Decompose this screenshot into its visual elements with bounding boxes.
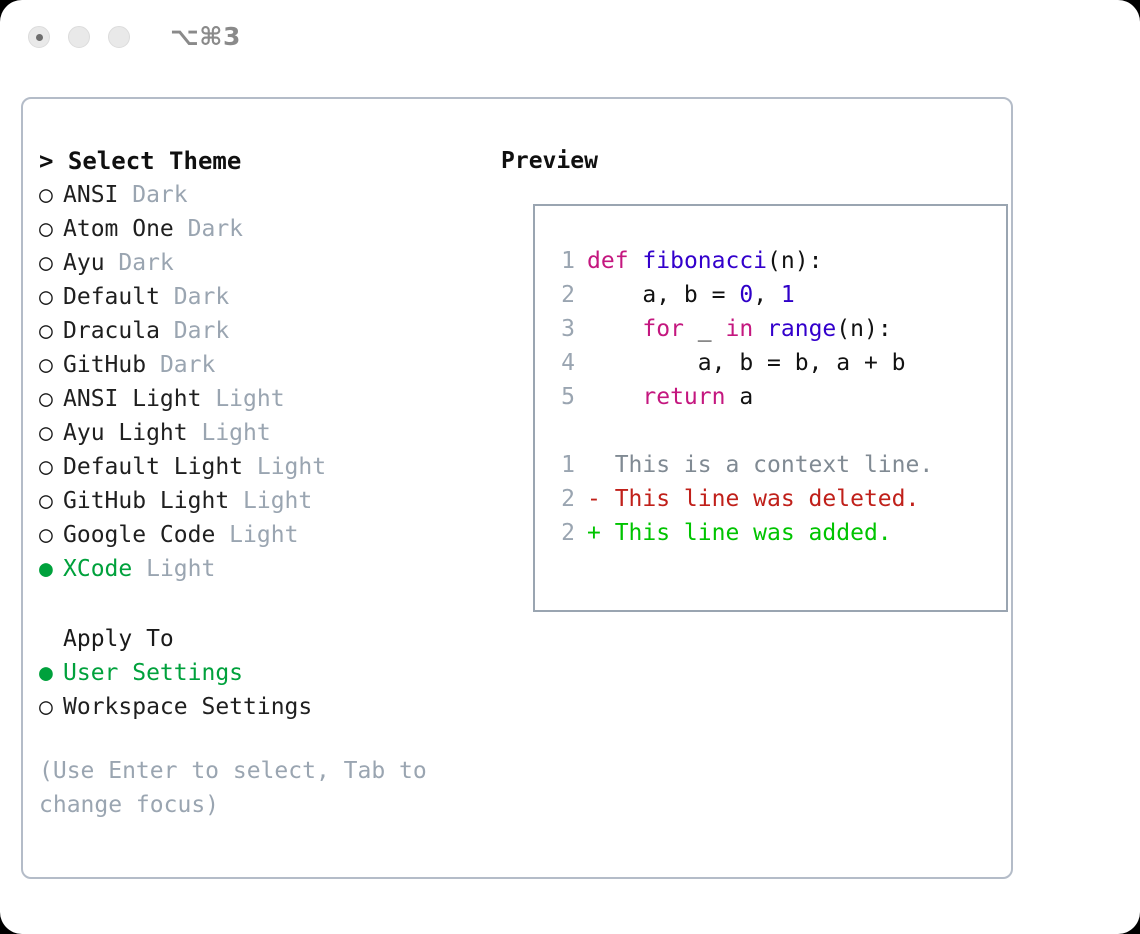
window-controls [28,26,130,48]
code-token: - This line was deleted. [587,486,919,512]
line-number: 4 [551,346,575,380]
radio-unselected-icon: ○ [39,348,63,382]
apply-to-list[interactable]: ●User Settings○Workspace Settings [39,656,489,724]
preview-column: Preview 1def fibonacci(n):2 a, b = 0, 13… [501,144,1001,178]
code-line: 1 This is a context line. [551,448,933,482]
line-number: 1 [551,448,575,482]
select-theme-header: > Select Theme [39,144,489,178]
code-token: a [725,384,753,410]
theme-variant-tag: Dark [160,314,229,348]
code-token: (n): [767,248,822,274]
theme-name: GitHub Light [63,484,229,518]
radio-unselected-icon: ○ [39,212,63,246]
line-number: 3 [551,312,575,346]
radio-unselected-icon: ○ [39,178,63,212]
theme-list-item[interactable]: ●XCode Light [39,552,489,586]
theme-list-item[interactable]: ○Default Light Light [39,450,489,484]
apply-to-title: Apply To [39,622,489,656]
line-number: 1 [551,244,575,278]
code-token: a, b = b, a + b [587,350,906,376]
preview-box: 1def fibonacci(n):2 a, b = 0, 13 for _ i… [533,204,1008,612]
theme-name: XCode [63,552,132,586]
code-token: , [753,282,781,308]
radio-unselected-icon: ○ [39,450,63,484]
code-token [587,384,642,410]
code-token: return [642,384,725,410]
theme-variant-tag: Light [215,518,298,552]
code-token: def [587,248,629,274]
theme-variant-tag: Light [201,382,284,416]
main-panel: > Select Theme ○ANSI Dark○Atom One Dark○… [21,97,1013,879]
theme-name: GitHub [63,348,146,382]
theme-list-item[interactable]: ○GitHub Dark [39,348,489,382]
theme-name: Ayu Light [63,416,188,450]
code-token: This is a context line. [587,452,933,478]
theme-variant-tag: Dark [146,348,215,382]
theme-name: Google Code [63,518,215,552]
traffic-light-dot-icon [36,34,43,41]
code-line: 2 a, b = 0, 1 [551,278,933,312]
code-line: 4 a, b = b, a + b [551,346,933,380]
theme-variant-tag: Light [243,450,326,484]
keyboard-shortcut-label: ⌥⌘3 [170,22,241,51]
theme-list-item[interactable]: ○Dracula Dark [39,314,489,348]
code-line: 3 for _ in range(n): [551,312,933,346]
theme-name: Dracula [63,314,160,348]
radio-selected-icon: ● [39,656,63,690]
radio-unselected-icon: ○ [39,382,63,416]
panel-columns: > Select Theme ○ANSI Dark○Atom One Dark○… [23,99,1011,877]
apply-to-item[interactable]: ○Workspace Settings [39,690,489,724]
code-token: 1 [781,282,795,308]
line-number: 2 [551,516,575,550]
code-token [629,248,643,274]
theme-name: ANSI [63,178,118,212]
code-line: 2+ This line was added. [551,516,933,550]
apply-to-label: User Settings [63,656,243,690]
theme-list-item[interactable]: ○Ayu Dark [39,246,489,280]
theme-list-item[interactable]: ○GitHub Light Light [39,484,489,518]
radio-unselected-icon: ○ [39,416,63,450]
theme-name: ANSI Light [63,382,201,416]
code-token: in [725,316,753,342]
theme-name: Default Light [63,450,243,484]
theme-name: Atom One [63,212,174,246]
code-token: fibonacci [642,248,767,274]
theme-variant-tag: Light [132,552,215,586]
theme-name: Default [63,280,160,314]
theme-list-item[interactable]: ○ANSI Light Light [39,382,489,416]
theme-list-item[interactable]: ○Ayu Light Light [39,416,489,450]
keyboard-hint-text: (Use Enter to select, Tab to change focu… [39,754,439,822]
theme-list-item[interactable]: ○Default Dark [39,280,489,314]
radio-selected-icon: ● [39,552,63,586]
theme-variant-tag: Dark [160,280,229,314]
preview-title: Preview [501,144,1001,178]
code-token [587,418,601,444]
spacer [39,724,489,754]
apply-to-label: Workspace Settings [63,690,312,724]
code-token: for [642,316,684,342]
theme-list[interactable]: ○ANSI Dark○Atom One Dark○Ayu Dark○Defaul… [39,178,489,586]
code-token [587,316,642,342]
theme-variant-tag: Light [188,416,271,450]
theme-variant-tag: Dark [105,246,174,280]
traffic-light-2-icon[interactable] [68,26,90,48]
radio-unselected-icon: ○ [39,690,63,724]
traffic-light-active-icon[interactable] [28,26,50,48]
title-bar: ⌥⌘3 [0,0,1140,78]
theme-list-item[interactable]: ○Atom One Dark [39,212,489,246]
code-token: a, b = [587,282,739,308]
spacer [39,586,489,622]
code-line: 5 return a [551,380,933,414]
traffic-light-3-icon[interactable] [108,26,130,48]
code-line [551,414,933,448]
code-token [753,316,767,342]
line-number: 5 [551,380,575,414]
apply-to-item[interactable]: ●User Settings [39,656,489,690]
radio-unselected-icon: ○ [39,314,63,348]
theme-list-item[interactable]: ○Google Code Light [39,518,489,552]
code-line: 1def fibonacci(n): [551,244,933,278]
code-token: (n): [836,316,891,342]
line-number: 2 [551,278,575,312]
radio-unselected-icon: ○ [39,246,63,280]
code-preview: 1def fibonacci(n):2 a, b = 0, 13 for _ i… [551,244,933,550]
theme-variant-tag: Light [229,484,312,518]
theme-selector-column: > Select Theme ○ANSI Dark○Atom One Dark○… [39,144,489,822]
radio-unselected-icon: ○ [39,484,63,518]
code-line: 2- This line was deleted. [551,482,933,516]
radio-unselected-icon: ○ [39,518,63,552]
theme-variant-tag: Dark [174,212,243,246]
app-window: ⌥⌘3 > Select Theme ○ANSI Dark○Atom One D… [0,0,1140,934]
radio-unselected-icon: ○ [39,280,63,314]
line-number: 2 [551,482,575,516]
theme-variant-tag: Dark [118,178,187,212]
code-token: _ [684,316,726,342]
code-token: + This line was added. [587,520,892,546]
theme-name: Ayu [63,246,105,280]
code-token: range [767,316,836,342]
code-token: 0 [739,282,753,308]
theme-list-item[interactable]: ○ANSI Dark [39,178,489,212]
